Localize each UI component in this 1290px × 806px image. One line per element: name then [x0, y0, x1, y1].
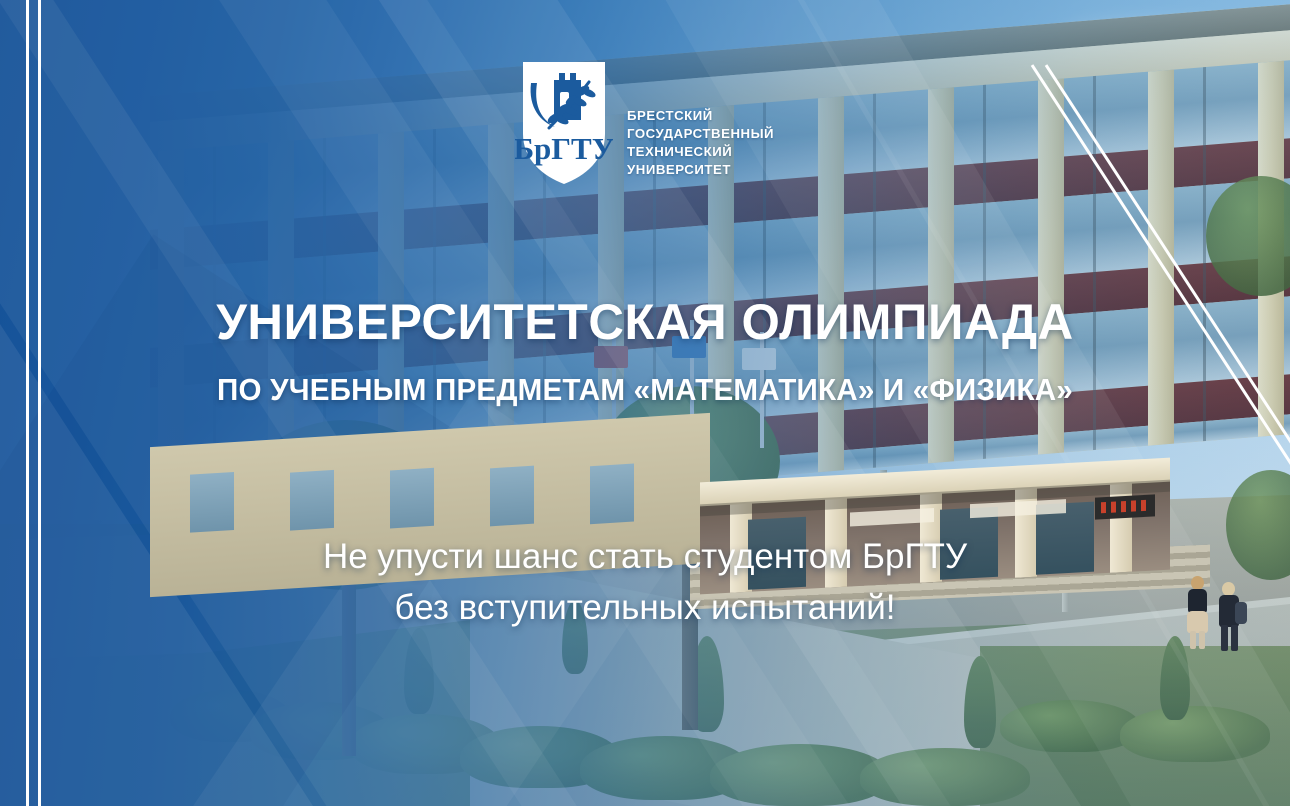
- university-name-line-4: УНИВЕРСИТЕТ: [627, 161, 774, 179]
- banner-content: БрГТУ БРЕСТСКИЙ ГОСУДАРСТВЕННЫЙ ТЕХНИЧЕС…: [0, 0, 1290, 806]
- headline-main: УНИВЕРСИТЕТСКАЯ ОЛИМПИАДА: [10, 296, 1281, 348]
- university-logo-lockup[interactable]: БрГТУ БРЕСТСКИЙ ГОСУДАРСТВЕННЫЙ ТЕХНИЧЕС…: [515, 56, 774, 188]
- university-name-line-3: ТЕХНИЧЕСКИЙ: [627, 143, 774, 161]
- headline-sub: ПО УЧЕБНЫМ ПРЕДМЕТАМ «МАТЕМАТИКА» И «ФИЗ…: [19, 373, 1270, 408]
- promo-banner: БрГТУ БРЕСТСКИЙ ГОСУДАРСТВЕННЫЙ ТЕХНИЧЕС…: [0, 0, 1290, 806]
- university-name-line-2: ГОСУДАРСТВЕННЫЙ: [627, 125, 774, 143]
- tagline-block: Не упусти шанс стать студентом БрГТУ без…: [0, 532, 1290, 634]
- shield-label: БрГТУ: [515, 131, 613, 166]
- headline-block: УНИВЕРСИТЕТСКАЯ ОЛИМПИАДА ПО УЧЕБНЫМ ПРЕ…: [0, 296, 1290, 408]
- university-name: БРЕСТСКИЙ ГОСУДАРСТВЕННЫЙ ТЕХНИЧЕСКИЙ УН…: [627, 65, 774, 179]
- brstu-shield-icon: БрГТУ: [515, 56, 613, 188]
- frame-line-left-inner: [38, 0, 41, 806]
- university-name-line-1: БРЕСТСКИЙ: [627, 107, 774, 125]
- tagline-line-2: без вступительных испытаний!: [0, 583, 1290, 634]
- tagline-line-1: Не упусти шанс стать студентом БрГТУ: [0, 532, 1290, 583]
- frame-line-left-outer: [26, 0, 29, 806]
